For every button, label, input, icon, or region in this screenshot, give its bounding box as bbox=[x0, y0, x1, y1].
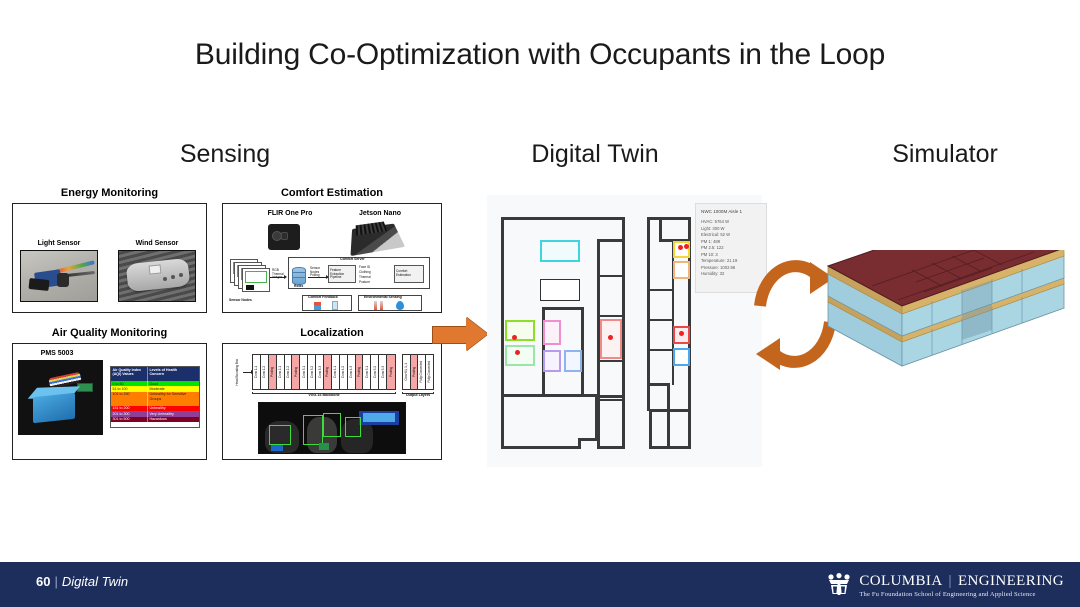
sensing-to-twin-arrow bbox=[432, 318, 488, 352]
digital-twin-floorplan[interactable]: NWC 1000M Aisle 1 HVAC: 5764 W Light: 30… bbox=[487, 195, 762, 467]
highlight-room-mint[interactable] bbox=[505, 345, 535, 366]
localization-detection-photo bbox=[258, 402, 406, 454]
cnn-layer-conv-5-2: Conv 5-2 bbox=[371, 355, 379, 389]
cnn-input-label: Head Bounding Box bbox=[232, 354, 242, 390]
panel-title-comfort-estimation: Comfort Estimation bbox=[222, 187, 442, 199]
redis-db-icon bbox=[292, 267, 306, 285]
environmental-sensing-label: Environmental Sensing bbox=[364, 296, 402, 300]
footer-section-title: Digital Twin bbox=[62, 574, 128, 589]
energyplus-building-model bbox=[812, 250, 1074, 380]
comfort-architecture-diagram: Sensor Nodes RGB Thermal Images Comfort … bbox=[228, 255, 436, 311]
comfort-feedback-label: Comfort Feedback bbox=[308, 296, 338, 300]
feature-face-id: Face ID bbox=[359, 266, 370, 270]
highlight-room-blue[interactable] bbox=[564, 350, 582, 372]
cnn-layer-conv-1-1: Conv 1-1 bbox=[253, 355, 261, 389]
light-sensor-label: Light Sensor bbox=[20, 240, 98, 247]
occupant-marker bbox=[684, 244, 689, 249]
occupant-marker bbox=[512, 335, 517, 340]
highlight-room-green[interactable] bbox=[505, 320, 535, 341]
logo-columbia: COLUMBIA bbox=[859, 573, 942, 590]
cnn-layer-pooling: Pooling bbox=[269, 355, 277, 389]
page-title: Building Co-Optimization with Occupants … bbox=[0, 38, 1080, 72]
aqi-concern: Unhealthy for Sensitive Groups bbox=[148, 392, 199, 406]
aqi-header-col2-line2: Concern bbox=[149, 372, 197, 376]
output-layer-conv-64-1-1: Conv 64, 1, 1 bbox=[403, 355, 411, 389]
highlight-room-cyan[interactable] bbox=[540, 240, 580, 262]
occupant-marker bbox=[679, 331, 684, 336]
table-header-row: Air Quality Index (AQI) Values Levels of… bbox=[111, 367, 199, 381]
cnn-layer-conv-4-3: Conv 4-3 bbox=[348, 355, 356, 389]
occupant-marker bbox=[515, 350, 520, 355]
aqi-concern: Hazardous bbox=[148, 417, 199, 422]
highlight-room-orange[interactable] bbox=[673, 261, 690, 279]
cnn-layer-conv-3-3: Conv 3-3 bbox=[316, 355, 324, 389]
footer-separator: | bbox=[54, 574, 57, 589]
output-layers-caption: Output Layers bbox=[400, 393, 436, 397]
zone-info-title: NWC 1000M Aisle 1 bbox=[701, 208, 761, 215]
vgg16-backbone-caption: VGG-16 Backbone bbox=[252, 393, 396, 397]
aqi-header-col1-line2: (AQI) Values bbox=[113, 372, 146, 376]
feature-clothing: Clothing bbox=[359, 271, 371, 275]
column-header-sensing: Sensing bbox=[95, 140, 355, 169]
panel-title-air-quality-monitoring: Air Quality Monitoring bbox=[12, 327, 207, 339]
columbia-crown-icon bbox=[826, 573, 852, 597]
comfort-server-title: Comfort Server bbox=[340, 258, 365, 262]
jetson-nano-label: Jetson Nano bbox=[340, 210, 420, 217]
cnn-layer-pooling: Pooling bbox=[324, 355, 332, 389]
highlight-room-sky[interactable] bbox=[673, 348, 690, 366]
pms5003-label: PMS 5003 bbox=[22, 350, 92, 357]
cnn-layer-conv-2-1: Conv 2-1 bbox=[277, 355, 285, 389]
column-header-simulator: Simulator bbox=[820, 140, 1070, 169]
vgg16-backbone-layers: Conv 1-1Conv 1-2PoolingConv 2-1Conv 2-2P… bbox=[252, 354, 396, 390]
wind-sensor-label: Wind Sensor bbox=[118, 240, 196, 247]
cnn-layer-pooling: Pooling bbox=[292, 355, 300, 389]
aqi-table: Air Quality Index (AQI) Values Levels of… bbox=[110, 366, 200, 428]
step-comfort-estimation: Comfort Estimation bbox=[396, 270, 423, 277]
cnn-layer-pooling: Pooling bbox=[387, 355, 395, 389]
cnn-layer-conv-5-1: Conv 5-1 bbox=[363, 355, 371, 389]
flir-one-pro-device bbox=[268, 224, 300, 250]
cnn-layer-conv-2-2: Conv 2-2 bbox=[285, 355, 293, 389]
cnn-layer-pooling: Pooling bbox=[356, 355, 364, 389]
slide-footer: 60|Digital Twin COLUMBIA | ENGIN bbox=[0, 562, 1080, 607]
step-sensor-polling: Sensor Nodes Polling bbox=[310, 267, 326, 278]
cnn-layer-conv-3-1: Conv 3-1 bbox=[300, 355, 308, 389]
vgg16-architecture-diagram: Head Bounding Box Conv 1-1Conv 1-2Poolin… bbox=[232, 352, 432, 399]
feature-posture: Posture bbox=[359, 281, 370, 285]
step-feature-extraction: Feature Extraction Pipeline bbox=[330, 269, 355, 280]
pms5003-photo bbox=[18, 360, 103, 435]
highlight-room-pink[interactable] bbox=[543, 320, 561, 345]
highlight-room-plain[interactable] bbox=[540, 279, 580, 301]
cnn-layer-conv-1-2: Conv 1-2 bbox=[261, 355, 269, 389]
logo-engineering: ENGINEERING bbox=[958, 573, 1064, 590]
column-header-digital-twin: Digital Twin bbox=[470, 140, 720, 169]
logo-text-block: COLUMBIA | ENGINEERING The Fu Foundation… bbox=[859, 573, 1064, 598]
cnn-layer-conv-5-3: Conv 5-3 bbox=[379, 355, 387, 389]
cnn-layer-conv-4-1: Conv 4-1 bbox=[332, 355, 340, 389]
cnn-layer-conv-3-2: Conv 3-2 bbox=[308, 355, 316, 389]
logo-tagline: The Fu Foundation School of Engineering … bbox=[859, 591, 1064, 598]
sensor-nodes-caption: Sensor Nodes bbox=[229, 299, 252, 303]
aqi-range: 301 to 500 bbox=[111, 417, 148, 422]
flir-one-pro-label: FLIR One Pro bbox=[250, 210, 330, 217]
columbia-engineering-logo: COLUMBIA | ENGINEERING The Fu Foundation… bbox=[826, 568, 1064, 602]
output-layer-fully-connected: Fully Connected bbox=[426, 355, 433, 389]
redis-label: Redis bbox=[294, 285, 303, 289]
aqi-range: 101 to 150 bbox=[111, 392, 148, 406]
highlight-room-violet[interactable] bbox=[543, 350, 561, 372]
feature-thermal: Thermal bbox=[359, 276, 371, 280]
table-row: 301 to 500 Hazardous bbox=[111, 417, 199, 422]
slide-number: 60 bbox=[36, 574, 50, 589]
light-sensor-photo bbox=[20, 250, 98, 302]
occupant-marker bbox=[608, 335, 613, 340]
output-layer-pooling: Pooling bbox=[411, 355, 419, 389]
occupant-marker bbox=[678, 245, 683, 250]
panel-title-localization: Localization bbox=[222, 327, 442, 339]
table-row: 101 to 150 Unhealthy for Sensitive Group… bbox=[111, 392, 199, 406]
cnn-layer-conv-4-2: Conv 4-2 bbox=[340, 355, 348, 389]
output-layers-group: Conv 64, 1, 1PoolingFully ConnectedFully… bbox=[402, 354, 434, 390]
logo-divider: | bbox=[949, 573, 952, 590]
wind-sensor-photo bbox=[118, 250, 196, 302]
panel-title-energy-monitoring: Energy Monitoring bbox=[12, 187, 207, 199]
output-layer-fully-connected: Fully Connected bbox=[418, 355, 426, 389]
sensor-nodes-stack bbox=[230, 259, 270, 293]
footer-caption: 60|Digital Twin bbox=[36, 574, 128, 589]
